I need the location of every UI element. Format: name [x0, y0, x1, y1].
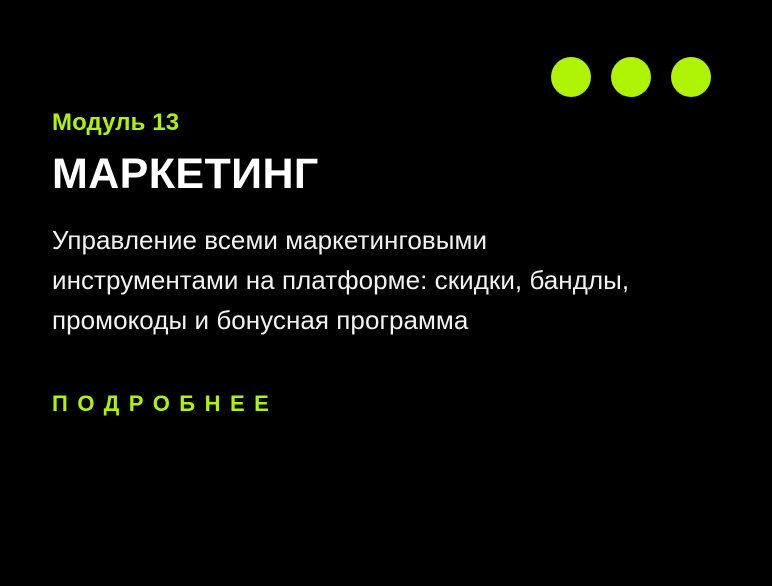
- page-title: МАРКЕТИНГ: [52, 149, 692, 199]
- module-card: Модуль 13 МАРКЕТИНГ Управление всеми мар…: [0, 0, 772, 586]
- dot-icon-1: [551, 57, 591, 97]
- dot-icon-2: [611, 57, 651, 97]
- card-content: Модуль 13 МАРКЕТИНГ Управление всеми мар…: [52, 108, 692, 418]
- module-eyebrow-label: Модуль 13: [52, 108, 692, 138]
- details-link[interactable]: ПОДРОБНЕЕ: [52, 390, 278, 418]
- three-dots-decoration: [551, 57, 711, 97]
- module-description: Управление всеми маркетинговыми инструме…: [52, 220, 667, 340]
- dot-icon-3: [671, 57, 711, 97]
